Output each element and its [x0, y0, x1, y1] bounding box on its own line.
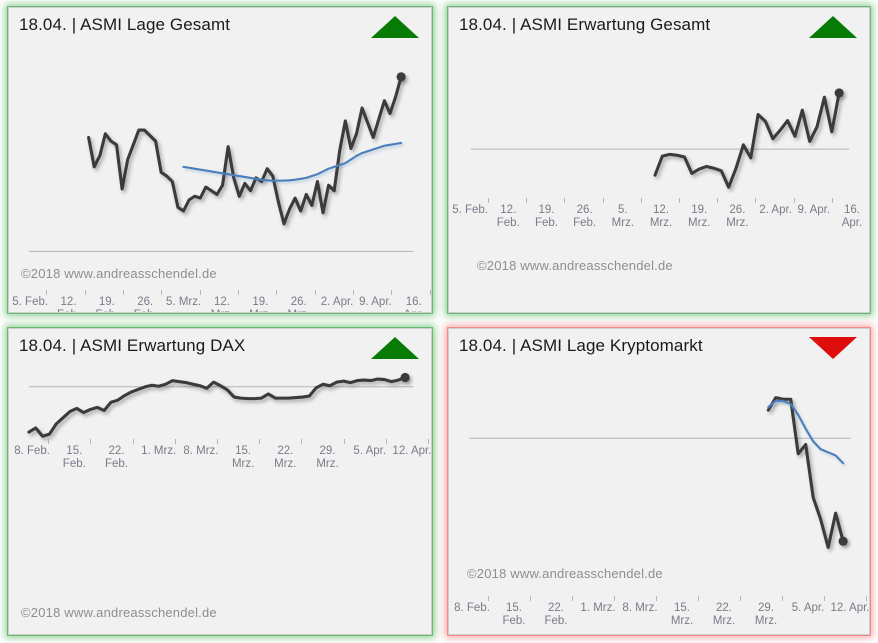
trend-line [183, 143, 401, 181]
dashboard: 18.04. | ASMI Lage Gesamt ©2018 www.andr… [0, 0, 878, 643]
panel-asmi-erwartung-gesamt[interactable]: 18.04. | ASMI Erwartung Gesamt ©2018 www… [448, 7, 870, 313]
copyright-text: ©2018 www.andreasschendel.de [21, 605, 217, 620]
axis-tick [467, 596, 509, 601]
axis-tick [296, 290, 334, 295]
axis-tick [407, 439, 432, 444]
axis-tick [719, 596, 761, 601]
series-end-marker [401, 373, 410, 382]
axis-tick [322, 439, 364, 444]
axis-tick [180, 290, 218, 295]
panel-asmi-erwartung-dax[interactable]: 18.04. | ASMI Erwartung DAX ©2018 www.an… [8, 328, 432, 635]
axis-tick [27, 290, 65, 295]
axis-tick [698, 198, 736, 203]
axis-tick [813, 198, 851, 203]
axis-tick [257, 290, 295, 295]
axis-tick [154, 439, 196, 444]
axis-tick [507, 198, 545, 203]
axis-tick [111, 439, 153, 444]
axis-tick [761, 596, 803, 601]
axis-tick [280, 439, 322, 444]
axis-tick [334, 290, 372, 295]
series-line [655, 93, 839, 187]
axis-tick [545, 198, 583, 203]
axis-tick [845, 596, 870, 601]
panel-grid: 18.04. | ASMI Lage Gesamt ©2018 www.andr… [0, 0, 878, 643]
series-line [89, 77, 402, 224]
panel-cell-2: 18.04. | ASMI Erwartung Gesamt ©2018 www… [440, 0, 878, 321]
axis-tick [411, 290, 432, 295]
axis-tick [736, 198, 774, 203]
axis-tick [593, 596, 635, 601]
panel-asmi-lage-kryptomarkt[interactable]: 18.04. | ASMI Lage Kryptomarkt ©2018 www… [448, 328, 870, 635]
chart-canvas [9, 329, 431, 634]
axis-tick [27, 439, 69, 444]
copyright-text: ©2018 www.andreasschendel.de [477, 258, 673, 273]
axis-ticks [449, 596, 870, 601]
series-end-marker [835, 88, 844, 97]
axis-tick [660, 198, 698, 203]
axis-tick [65, 290, 103, 295]
axis-tick [622, 198, 660, 203]
axis-tick [851, 198, 870, 203]
series-end-marker [397, 72, 406, 81]
axis-tick [104, 290, 142, 295]
axis-tick [69, 439, 111, 444]
axis-tick [238, 439, 280, 444]
panel-cell-4: 18.04. | ASMI Lage Kryptomarkt ©2018 www… [440, 321, 878, 643]
axis-ticks [449, 198, 870, 203]
panel-asmi-lage-gesamt[interactable]: 18.04. | ASMI Lage Gesamt ©2018 www.andr… [8, 7, 432, 313]
series-end-marker [839, 537, 848, 546]
chart-canvas [449, 329, 869, 634]
copyright-text: ©2018 www.andreasschendel.de [21, 266, 217, 281]
axis-tick [219, 290, 257, 295]
axis-tick [635, 596, 677, 601]
axis-ticks [9, 439, 432, 444]
axis-tick [469, 198, 507, 203]
axis-tick [775, 198, 813, 203]
axis-tick [142, 290, 180, 295]
axis-ticks [9, 290, 432, 295]
series-line [768, 398, 843, 548]
axis-tick [509, 596, 551, 601]
axis-tick [196, 439, 238, 444]
axis-tick [372, 290, 410, 295]
panel-cell-3: 18.04. | ASMI Erwartung DAX ©2018 www.an… [0, 321, 440, 643]
axis-tick [584, 198, 622, 203]
axis-tick [365, 439, 407, 444]
axis-tick [677, 596, 719, 601]
axis-tick [803, 596, 845, 601]
axis-tick [551, 596, 593, 601]
panel-cell-1: 18.04. | ASMI Lage Gesamt ©2018 www.andr… [0, 0, 440, 321]
copyright-text: ©2018 www.andreasschendel.de [467, 566, 663, 581]
